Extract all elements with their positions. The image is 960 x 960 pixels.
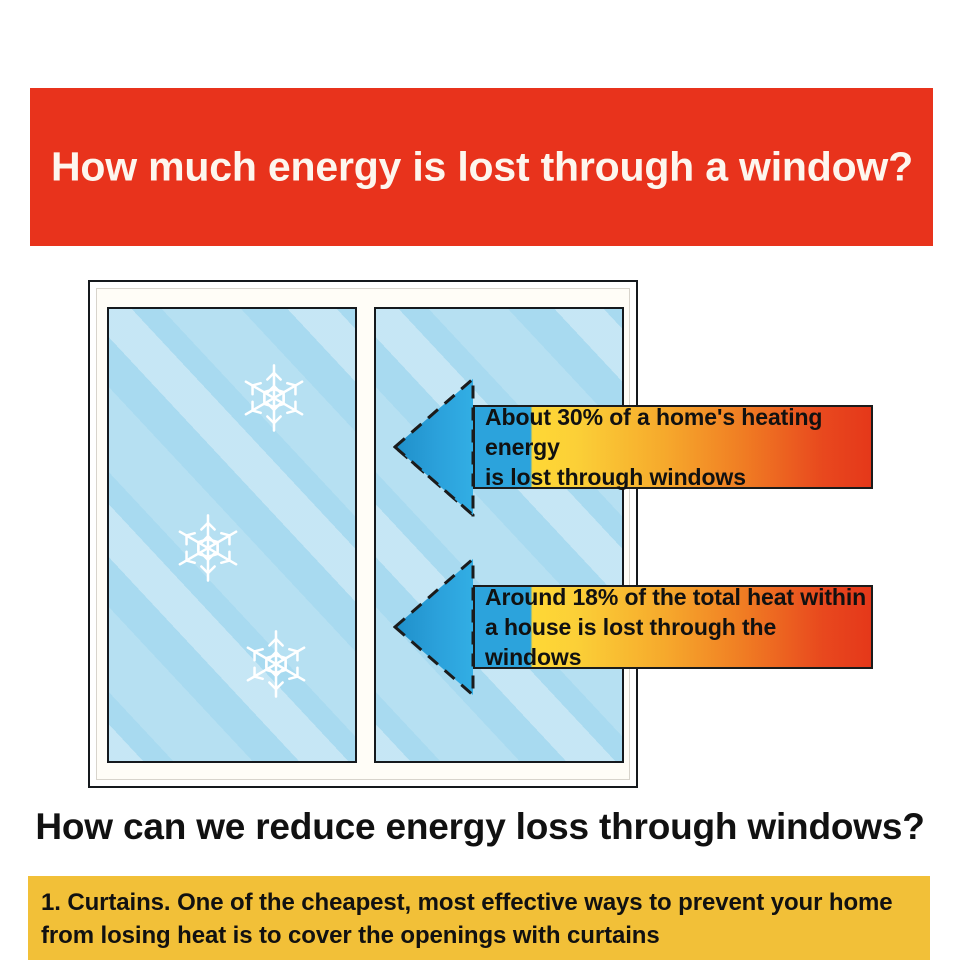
window-illustration (88, 280, 638, 788)
callout-gradient-bar (473, 585, 873, 669)
snowflake-icon (171, 511, 245, 585)
callout-gradient-bar (473, 405, 873, 489)
header-banner: How much energy is lost through a window… (30, 88, 933, 246)
glass-pane-left (107, 307, 357, 763)
footer-band: 1. Curtains. One of the cheapest, most e… (28, 876, 930, 960)
snowflake-icon (237, 361, 311, 435)
infographic-poster: How much energy is lost through a window… (0, 0, 960, 960)
section-heading: How can we reduce energy loss through wi… (0, 806, 960, 848)
page-title: How much energy is lost through a window… (48, 144, 916, 191)
heat-loss-callout-2: Around 18% of the total heat within a ho… (393, 557, 873, 697)
heat-loss-callout-1: About 30% of a home's heating energy is … (393, 377, 873, 517)
footer-tip-text: 1. Curtains. One of the cheapest, most e… (41, 886, 920, 952)
snowflake-icon (239, 627, 313, 701)
